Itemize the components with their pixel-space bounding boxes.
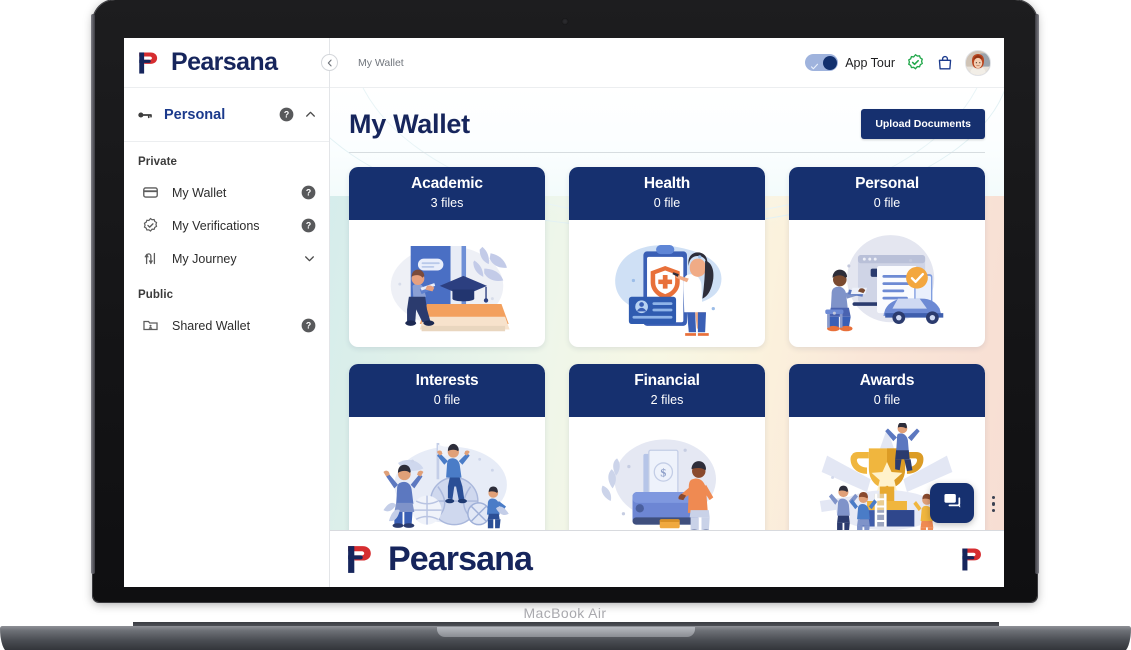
wallet-card-academic[interactable]: Academic 3 files	[349, 167, 545, 347]
sidebar-section-personal[interactable]: Personal ?	[124, 88, 329, 142]
card-title: Personal	[795, 175, 979, 193]
card-title: Interests	[355, 372, 539, 390]
svg-text:?: ?	[306, 221, 311, 231]
help-circle-icon[interactable]: ?	[301, 318, 316, 333]
academic-illustration	[355, 226, 539, 344]
card-title: Health	[575, 175, 759, 193]
card-header: Interests 0 file	[349, 364, 545, 417]
wallet-icon	[142, 184, 159, 201]
health-illustration	[575, 226, 759, 344]
app-window: Pearsana Personal ?	[124, 38, 1004, 587]
card-illustration-area: $	[569, 417, 765, 530]
card-header: Personal 0 file	[789, 167, 985, 220]
verified-check-icon[interactable]	[906, 53, 925, 72]
footer-brand: Pearsana	[344, 540, 532, 579]
sidebar-item-shared-wallet[interactable]: Shared Wallet ?	[124, 309, 329, 342]
avatar[interactable]	[965, 50, 991, 76]
card-title: Financial	[575, 372, 759, 390]
financial-illustration: $	[575, 423, 759, 530]
lid-edge-left	[91, 14, 95, 574]
svg-text:$: $	[660, 466, 666, 480]
sidebar-item-label: Shared Wallet	[159, 319, 301, 333]
screen: Pearsana Personal ?	[124, 38, 1004, 587]
svg-text:?: ?	[306, 321, 311, 331]
card-file-count: 0 file	[355, 393, 539, 407]
chat-bubble-icon	[942, 490, 963, 516]
personal-illustration	[795, 226, 979, 344]
shared-folder-icon	[142, 317, 159, 334]
device-label: MacBook Air	[93, 605, 1037, 621]
sidebar-item-label: My Wallet	[159, 186, 301, 200]
wallet-card-financial[interactable]: Financial 2 files	[569, 364, 765, 530]
screenshot-stage: Pearsana Personal ?	[0, 0, 1131, 650]
card-header: Financial 2 files	[569, 364, 765, 417]
interests-illustration	[355, 423, 539, 530]
page-title: My Wallet	[349, 109, 470, 140]
sidebar-group-label-public: Public	[124, 275, 329, 309]
lid-edge-right	[1035, 14, 1039, 574]
pearsana-logo-mark-icon	[959, 546, 986, 573]
card-illustration-area	[569, 220, 765, 347]
card-header: Awards 0 file	[789, 364, 985, 417]
card-file-count: 0 file	[795, 196, 979, 210]
check-icon	[810, 58, 819, 67]
card-file-count: 0 file	[575, 196, 759, 210]
card-file-count: 0 file	[795, 393, 979, 407]
pearsana-logo-mark-icon	[344, 543, 377, 576]
help-circle-icon[interactable]: ?	[301, 185, 316, 200]
wallet-card-interests[interactable]: Interests 0 file	[349, 364, 545, 530]
chevron-up-icon[interactable]	[304, 108, 317, 121]
card-file-count: 2 files	[575, 393, 759, 407]
bag-icon[interactable]	[936, 54, 954, 72]
wallet-card-grid: Academic 3 files	[330, 167, 1004, 530]
card-title: Awards	[795, 372, 979, 390]
svg-text:?: ?	[284, 110, 289, 120]
kebab-dot	[992, 496, 996, 500]
card-illustration-area	[349, 417, 545, 530]
card-header: Academic 3 files	[349, 167, 545, 220]
kebab-dot	[992, 502, 996, 506]
wallet-card-health[interactable]: Health 0 file	[569, 167, 765, 347]
card-header: Health 0 file	[569, 167, 765, 220]
sidebar-item-my-verifications[interactable]: My Verifications ?	[124, 209, 329, 242]
sidebar-item-my-journey[interactable]: My Journey	[124, 242, 329, 275]
toggle-knob	[823, 56, 837, 70]
top-bar: My Wallet App Tour	[330, 38, 1004, 88]
sidebar-brand-name: Pearsana	[171, 48, 277, 77]
laptop-base-notch	[437, 627, 695, 637]
sidebar-section-title: Personal	[164, 107, 269, 123]
sidebar-group-label-private: Private	[124, 142, 329, 176]
card-illustration-area	[789, 220, 985, 347]
journey-icon	[142, 250, 159, 267]
pearsana-logo-mark-icon	[136, 50, 162, 76]
more-vertical-icon[interactable]	[992, 496, 996, 513]
header-divider	[349, 152, 985, 153]
webcam-icon	[562, 18, 569, 25]
laptop-lid: Pearsana Personal ?	[93, 0, 1037, 602]
verified-badge-icon	[142, 217, 159, 234]
app-tour-toggle[interactable]	[805, 54, 838, 71]
wallet-card-personal[interactable]: Personal 0 file	[789, 167, 985, 347]
footer: Pearsana	[330, 530, 1004, 587]
sidebar-item-label: My Verifications	[159, 219, 301, 233]
help-circle-icon[interactable]: ?	[279, 107, 294, 122]
breadcrumb[interactable]: My Wallet	[358, 57, 794, 69]
upload-documents-button[interactable]: Upload Documents	[861, 109, 985, 139]
sidebar-brand[interactable]: Pearsana	[124, 38, 329, 88]
sidebar-item-label: My Journey	[159, 252, 303, 266]
chat-button[interactable]	[930, 483, 974, 523]
svg-text:?: ?	[306, 188, 311, 198]
page-header: My Wallet Upload Documents	[330, 88, 1004, 140]
content-area: My Wallet Upload Documents Academic 3 fi…	[330, 88, 1004, 530]
footer-brand-name: Pearsana	[388, 540, 532, 579]
sidebar: Pearsana Personal ?	[124, 38, 330, 587]
chevron-down-icon[interactable]	[303, 252, 316, 265]
key-icon	[136, 106, 154, 124]
card-file-count: 3 files	[355, 196, 539, 210]
card-illustration-area	[349, 220, 545, 347]
help-circle-icon[interactable]: ?	[301, 218, 316, 233]
card-title: Academic	[355, 175, 539, 193]
chevron-left-icon[interactable]	[321, 54, 338, 71]
sidebar-item-my-wallet[interactable]: My Wallet ?	[124, 176, 329, 209]
kebab-dot	[992, 509, 996, 513]
main-region: My Wallet App Tour	[330, 38, 1004, 587]
app-tour-label: App Tour	[845, 56, 895, 70]
app-tour-toggle-group[interactable]: App Tour	[805, 54, 895, 71]
